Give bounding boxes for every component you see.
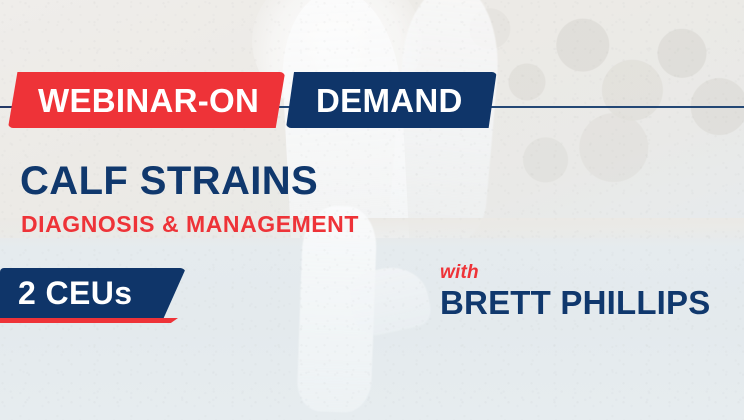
webinar-promo-banner: WEBINAR-ON DEMAND CALF STRAINS DIAGNOSIS… xyxy=(0,0,744,420)
presenter-block: with BRETT PHILLIPS xyxy=(440,263,710,320)
background-grain-texture xyxy=(0,0,744,420)
ceu-badge-group: 2 CEUs xyxy=(0,268,200,326)
badge-on-demand: DEMAND xyxy=(286,72,497,128)
page-subtitle: DIAGNOSIS & MANAGEMENT xyxy=(21,212,359,237)
badge-webinar-on-label: WEBINAR-ON xyxy=(38,84,259,117)
presenter-prefix: with xyxy=(440,263,710,282)
presenter-name: BRETT PHILLIPS xyxy=(440,286,710,320)
badge-webinar-on: WEBINAR-ON xyxy=(8,72,285,128)
ceu-badge: 2 CEUs xyxy=(0,268,186,318)
page-title: CALF STRAINS xyxy=(20,160,318,202)
ceu-badge-red-stripe xyxy=(0,318,178,323)
badge-on-demand-label: DEMAND xyxy=(316,84,463,117)
ceu-badge-label: 2 CEUs xyxy=(0,277,132,309)
